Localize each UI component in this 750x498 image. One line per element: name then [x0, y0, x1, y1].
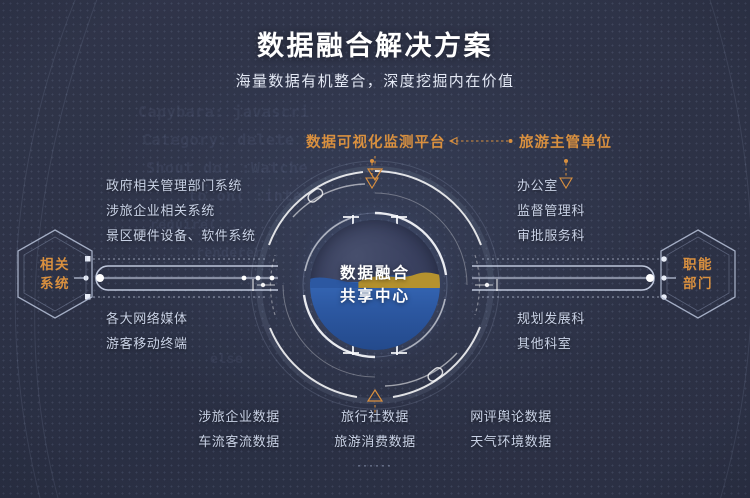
- page-subtitle: 海量数据有机整合，深度挖掘内在价值: [0, 70, 750, 91]
- label-tourism-authority: 旅游主管单位: [519, 131, 612, 152]
- list-item: 车流客流数据: [193, 429, 285, 454]
- list-item: 网评舆论数据: [465, 404, 557, 429]
- watermark-text: Capybara: javascri: [138, 103, 310, 121]
- list-item: 规划发展科: [517, 306, 585, 331]
- left-sources-top-list: 政府相关管理部门系统 涉旅企业相关系统 景区硬件设备、软件系统: [106, 173, 256, 248]
- list-item: 涉旅企业相关系统: [106, 198, 256, 223]
- list-item: 政府相关管理部门系统: [106, 173, 256, 198]
- ellipsis-indicator: ······: [0, 458, 750, 472]
- hexagon-label-line2: 部门: [683, 274, 713, 293]
- list-item: 旅行社数据: [329, 404, 421, 429]
- list-item: 办公室: [517, 173, 585, 198]
- data-fusion-hub[interactable]: 数据融合 共享中心: [245, 155, 505, 415]
- list-item: 监督管理科: [517, 198, 585, 223]
- list-item: 天气环境数据: [465, 429, 557, 454]
- watermark-text: else: [210, 352, 243, 367]
- bottom-data-row: 车流客流数据 旅游消费数据 天气环境数据: [0, 429, 750, 454]
- hexagon-label-line2: 系统: [40, 274, 70, 293]
- hexagon-functional-departments[interactable]: 职能 部门: [655, 226, 741, 322]
- bottom-data-row: 涉旅企业数据 旅行社数据 网评舆论数据: [0, 404, 750, 429]
- infographic-canvas: Capybara: javascri Category: delete Shou…: [0, 0, 750, 498]
- list-item: 旅游消费数据: [329, 429, 421, 454]
- page-title: 数据融合解决方案: [0, 24, 750, 63]
- list-item: 景区硬件设备、软件系统: [106, 223, 256, 248]
- dotted-left-arrow-icon: [440, 136, 516, 146]
- hexagon-label-line1: 职能: [683, 255, 713, 274]
- list-item: 审批服务科: [517, 223, 585, 248]
- vertical-orange-markers: [245, 155, 505, 415]
- hexagon-label-line1: 相关: [40, 255, 70, 274]
- list-item: 涉旅企业数据: [193, 404, 285, 429]
- watermark-text: Category: delete: [142, 131, 295, 149]
- hexagon-related-systems[interactable]: 相关 系统: [12, 226, 98, 322]
- list-item: 各大网络媒体: [106, 306, 188, 331]
- list-item: 其他科室: [517, 331, 585, 356]
- right-departments-top-list: 办公室 监督管理科 审批服务科: [517, 173, 585, 248]
- left-sources-bottom-list: 各大网络媒体 游客移动终端: [106, 306, 188, 356]
- label-visualization-platform: 数据可视化监测平台: [306, 131, 446, 152]
- bottom-data-lists: 涉旅企业数据 旅行社数据 网评舆论数据 车流客流数据 旅游消费数据 天气环境数据…: [0, 404, 750, 472]
- hexagon-label: 相关 系统: [12, 226, 98, 322]
- hexagon-label: 职能 部门: [655, 226, 741, 322]
- right-departments-bottom-list: 规划发展科 其他科室: [517, 306, 585, 356]
- list-item: 游客移动终端: [106, 331, 188, 356]
